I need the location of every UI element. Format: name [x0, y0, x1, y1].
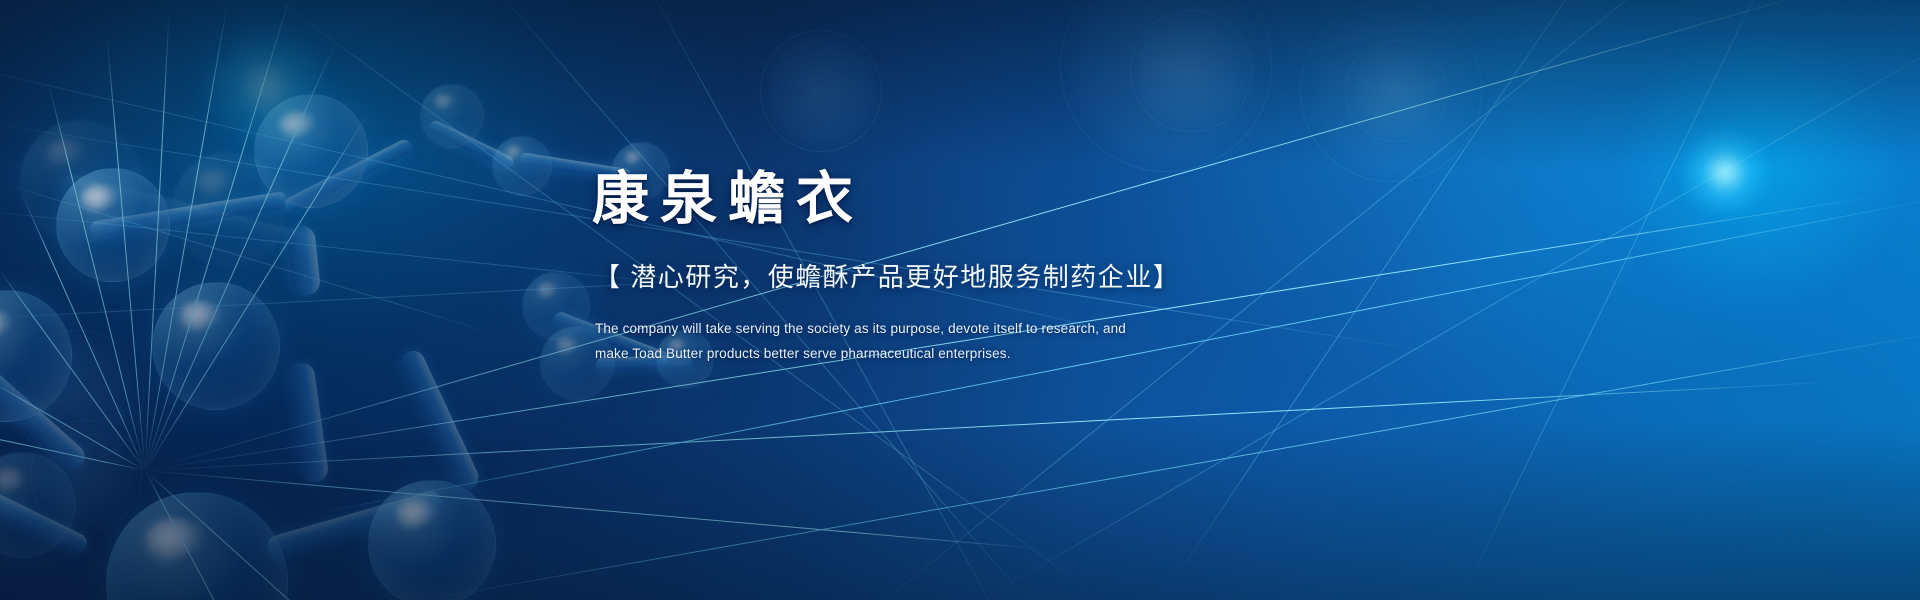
- description-line-1: The company will take serving the societ…: [595, 316, 1472, 341]
- sub-title: 【 潜心研究，使蟾酥产品更好地服务制药企业】: [594, 257, 1472, 294]
- description-block: The company will take serving the societ…: [595, 316, 1472, 366]
- description-line-2: make Toad Butter products better serve p…: [595, 341, 1472, 366]
- main-title: 康泉蟾衣: [592, 168, 1472, 231]
- banner-text-block: 康泉蟾衣 【 潜心研究，使蟾酥产品更好地服务制药企业】 The company …: [592, 168, 1472, 366]
- hero-banner: 康泉蟾衣 【 潜心研究，使蟾酥产品更好地服务制药企业】 The company …: [0, 0, 1920, 600]
